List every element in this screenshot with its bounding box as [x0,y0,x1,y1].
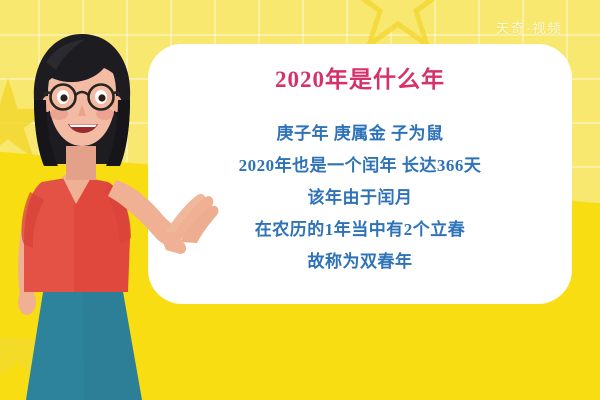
character-pupil-left [60,94,67,101]
character-teeth [69,125,97,128]
watermark: 天奇·视频 [496,18,562,37]
character-left-hand [18,289,36,315]
character-pupil-right [98,94,105,101]
character-illustration [0,0,600,400]
character-neck [66,146,96,180]
slide-canvas: 2020年是什么年 庚子年 庚属金 子为鼠 2020年也是一个闰年 长达366天… [0,0,600,400]
